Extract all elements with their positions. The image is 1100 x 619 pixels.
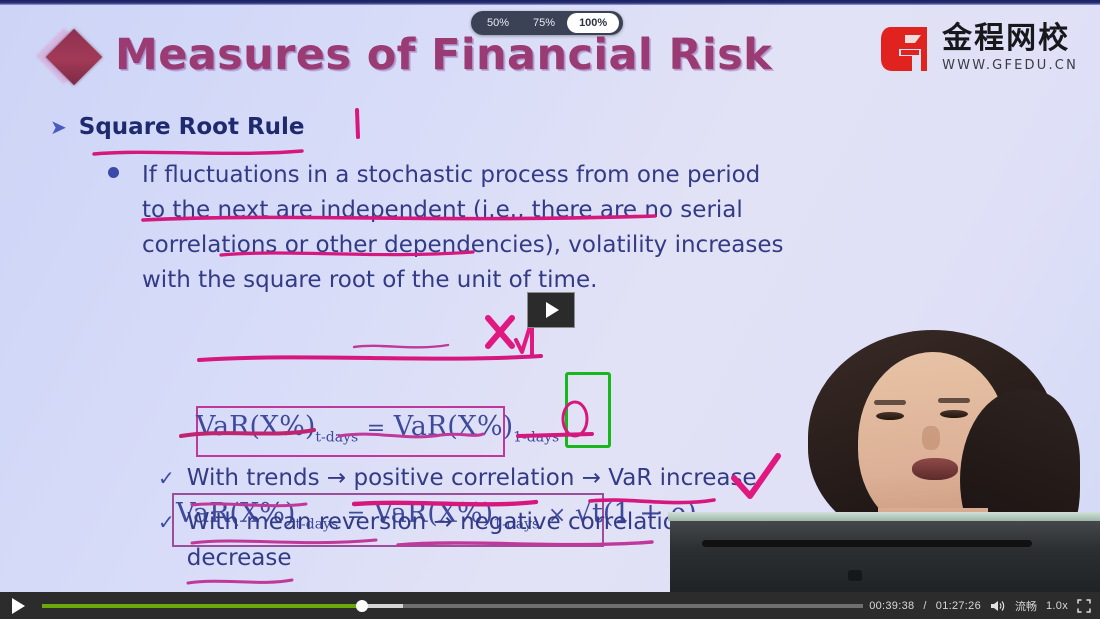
formula-1: VaR(X%)t-days = VaR(X%)1-days (196, 411, 559, 445)
formula-1-lhs: VaR(X%) (196, 411, 315, 442)
play-icon (546, 302, 559, 318)
progress-bar[interactable] (42, 604, 863, 608)
body-bullet: If fluctuations in a stochastic process … (108, 158, 788, 298)
zoom-control[interactable]: 50% 75% 100% (471, 11, 623, 35)
section-heading-label: Square Root Rule (79, 114, 305, 140)
brand-url: WWW.GFEDU.CN (942, 58, 1078, 73)
formula-1-eq: = (367, 416, 385, 441)
zoom-option-50[interactable]: 50% (475, 13, 521, 33)
page-title: Measures of Financial Risk (115, 30, 772, 80)
formula-1-lhs-sub: t-days (315, 429, 358, 445)
volume-icon[interactable] (990, 599, 1006, 613)
diamond-icon (38, 28, 104, 90)
ink-underline-formula-1 (196, 350, 546, 370)
slide-canvas: Measures of Financial Risk 金程网校 WWW.GFED… (0, 0, 1100, 592)
play-icon (12, 598, 25, 614)
green-highlight-box (565, 372, 611, 448)
section-heading: ➤ Square Root Rule (50, 114, 305, 140)
player-controls: 00:39:38 / 01:27:26 流畅 1.0x (0, 592, 1100, 619)
player-right-controls: 00:39:38 / 01:27:26 流畅 1.0x (869, 598, 1100, 614)
check-icon: ✓ (158, 466, 175, 490)
speed-label[interactable]: 1.0x (1046, 600, 1068, 612)
arrow-bullet-icon: ➤ (50, 117, 67, 137)
play-overlay-button[interactable] (527, 292, 575, 328)
check-icon: ✓ (158, 510, 175, 534)
time-separator: / (923, 600, 926, 612)
g-logo-icon (881, 26, 933, 72)
brand-logo: 金程网校 WWW.GFEDU.CN (881, 24, 1078, 73)
brand-name-cn: 金程网校 (942, 24, 1078, 54)
play-button[interactable] (0, 592, 36, 619)
formula-1-rhs-sub: 1-days (513, 429, 559, 445)
zoom-option-100[interactable]: 100% (567, 13, 619, 33)
body-bullet-text: If fluctuations in a stochastic process … (142, 158, 788, 298)
duration: 01:27:26 (936, 600, 981, 612)
progress-handle[interactable] (356, 600, 368, 612)
ink-underline-formula-1-sub (352, 338, 452, 357)
lectern (668, 512, 1100, 592)
current-time: 00:39:38 (869, 600, 914, 612)
quality-label[interactable]: 流畅 (1015, 598, 1037, 614)
bullet-dot-icon (108, 167, 119, 178)
check-item-label: With trends → positive correlation → VaR… (187, 460, 757, 496)
video-player-stage: Measures of Financial Risk 金程网校 WWW.GFED… (0, 0, 1100, 619)
fullscreen-icon[interactable] (1077, 599, 1091, 613)
ink-stroke-tick (352, 108, 364, 144)
formula-1-rhs: VaR(X%) (394, 411, 513, 442)
progress-fill (42, 604, 362, 608)
slide-top-band (0, 0, 1100, 5)
zoom-option-75[interactable]: 75% (521, 13, 567, 33)
